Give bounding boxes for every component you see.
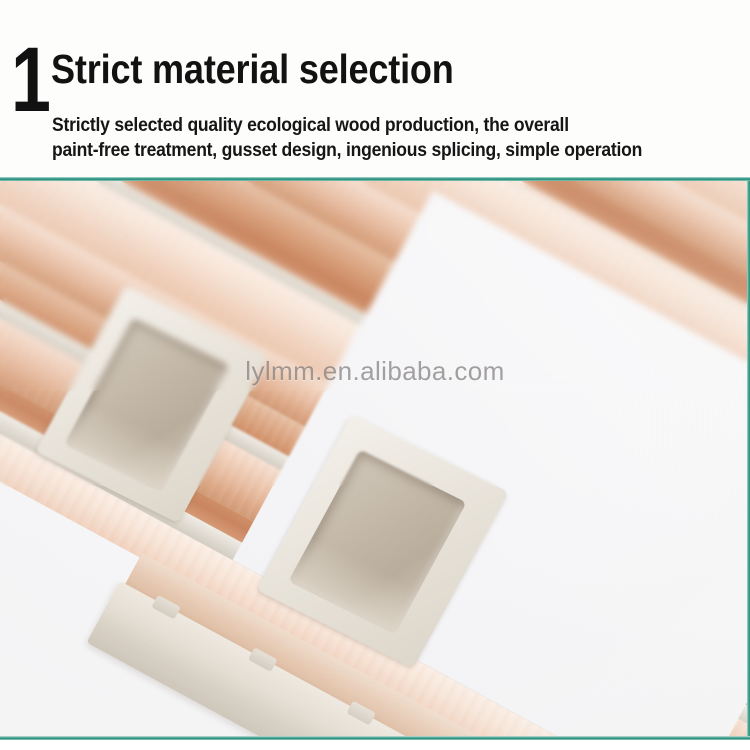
product-photo-inner bbox=[0, 181, 750, 738]
header-banner: 1 Strict material selection Strictly sel… bbox=[0, 0, 750, 179]
product-photo bbox=[0, 181, 750, 738]
product-detail-page: 1 Strict material selection Strictly sel… bbox=[0, 0, 750, 750]
step-number-badge: 1 bbox=[11, 34, 49, 126]
page-subtitle-line-2: paint-free treatment, gusset design, ing… bbox=[52, 138, 682, 163]
page-subtitle-line-1: Strictly selected quality ecological woo… bbox=[52, 113, 682, 138]
page-title: Strict material selection bbox=[51, 46, 454, 92]
footer-strip bbox=[0, 740, 750, 750]
page-subtitle: Strictly selected quality ecological woo… bbox=[52, 113, 682, 163]
